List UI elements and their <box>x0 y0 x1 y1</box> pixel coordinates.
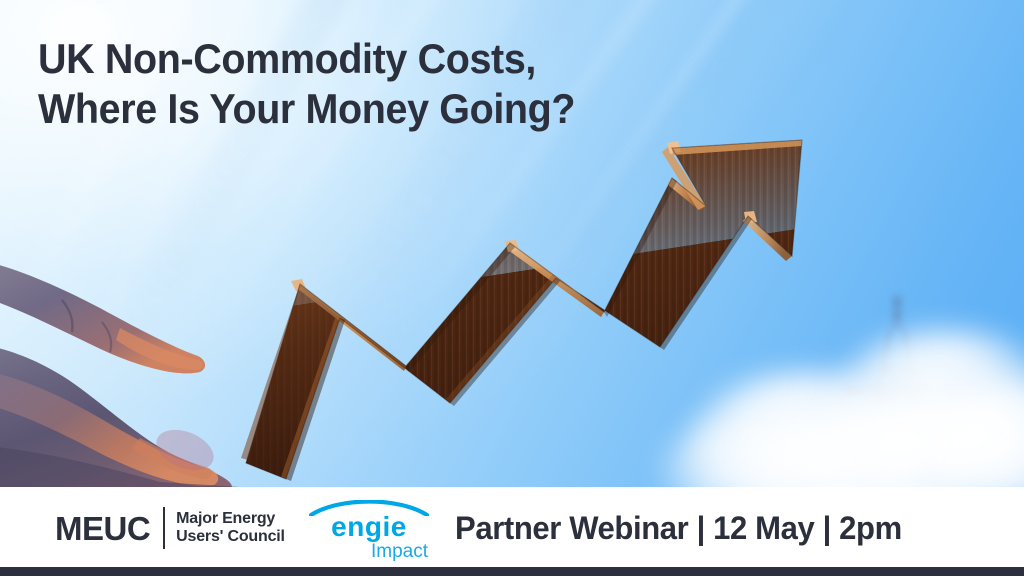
cloud <box>930 380 1024 487</box>
meuc-subtitle-line-2: Users' Council <box>176 528 285 546</box>
cloud <box>690 372 930 487</box>
cloud <box>832 330 1024 480</box>
meuc-wordmark: MEUC <box>55 512 150 545</box>
meuc-subtitle: Major Energy Users' Council <box>176 510 285 546</box>
bottom-accent-bar <box>0 567 1024 576</box>
title-line-2: Where Is Your Money Going? <box>38 84 696 134</box>
banner-title: UK Non-Commodity Costs, Where Is Your Mo… <box>38 34 738 134</box>
hand-holding-arrow <box>0 248 300 487</box>
title-line-1: UK Non-Commodity Costs, <box>38 34 696 84</box>
meuc-logo: MEUC Major Energy Users' Council <box>55 505 285 551</box>
logo-divider <box>163 507 165 549</box>
webinar-details-headline: Partner Webinar | 12 May | 2pm <box>455 509 902 547</box>
engie-impact-label: Impact <box>309 541 428 562</box>
cloud <box>660 420 840 487</box>
webinar-promo-banner: UK Non-Commodity Costs, Where Is Your Mo… <box>0 0 1024 576</box>
engie-impact-logo: engie Impact <box>309 500 429 562</box>
electricity-pylon-icon <box>832 286 1002 487</box>
meuc-subtitle-line-1: Major Energy <box>176 510 285 528</box>
engie-wordmark: engie <box>309 512 429 542</box>
cloud <box>760 404 1024 487</box>
